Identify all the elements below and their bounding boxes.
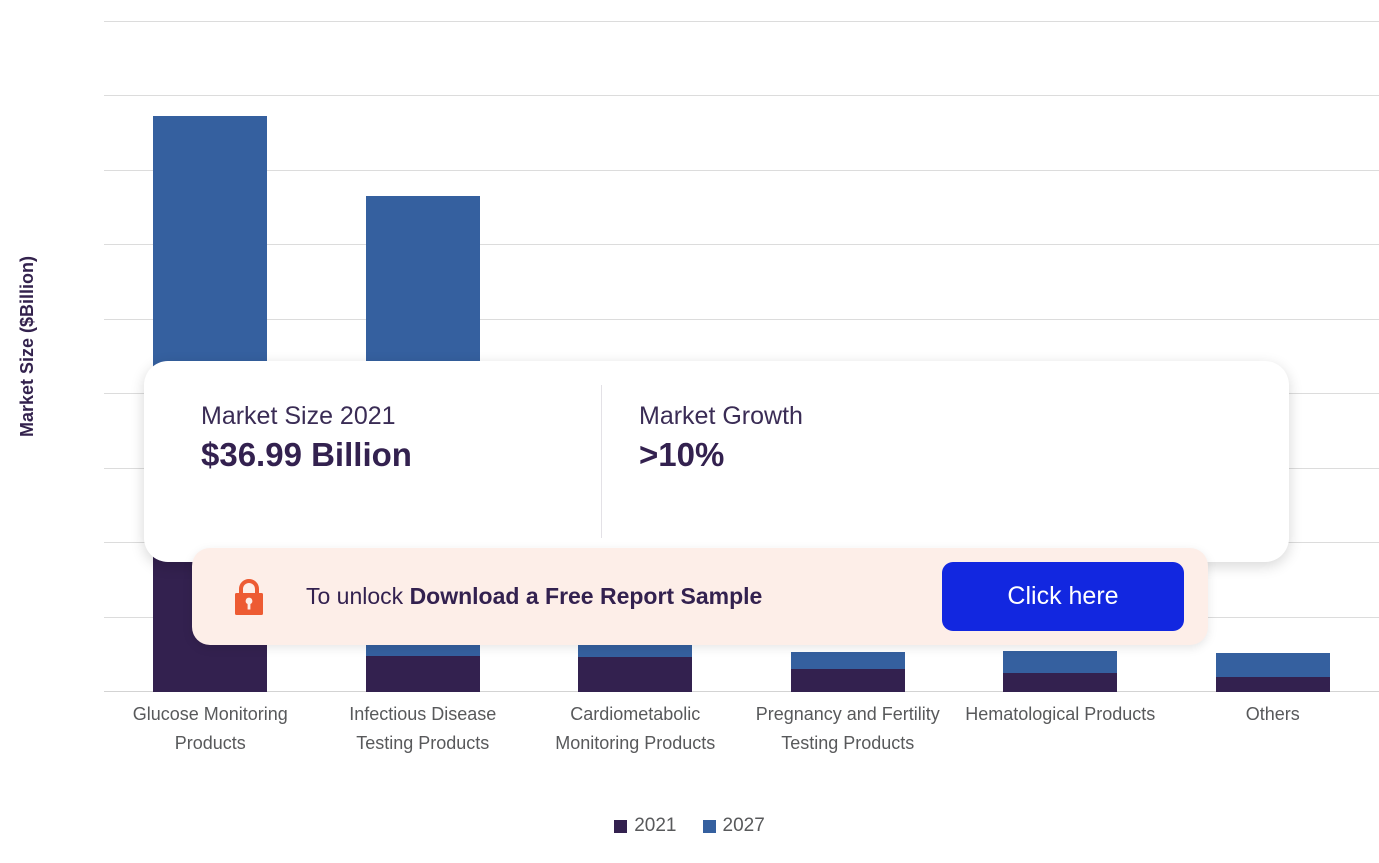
legend-swatch	[614, 820, 627, 833]
unlock-banner-text: To unlock Download a Free Report Sample	[306, 583, 942, 610]
info-cell-market-growth: Market Growth >10%	[601, 361, 854, 562]
lock-icon	[232, 578, 266, 616]
bar-2021	[791, 669, 905, 692]
bar-2021	[578, 657, 692, 693]
bar-group	[1216, 1, 1330, 692]
unlock-bold-text: Download a Free Report Sample	[410, 583, 763, 609]
y-axis-title: Market Size ($Billion)	[8, 0, 48, 692]
bar-2021	[1216, 677, 1330, 692]
x-tick-label: Infectious Disease Testing Products	[323, 700, 523, 758]
legend-swatch	[703, 820, 716, 833]
gridline	[104, 170, 1379, 171]
market-growth-value: >10%	[639, 435, 854, 475]
legend-label: 2027	[723, 815, 765, 837]
legend-item: 2027	[703, 815, 765, 837]
gridline	[104, 95, 1379, 96]
y-axis-title-label: Market Size ($Billion)	[18, 255, 39, 436]
gridline	[104, 21, 1379, 22]
legend-label: 2021	[634, 815, 676, 837]
bar-2021	[366, 656, 480, 692]
chart-legend: 20212027	[0, 815, 1379, 837]
gridline	[104, 244, 1379, 245]
market-growth-label: Market Growth	[639, 401, 854, 431]
x-tick-label: Hematological Products	[960, 700, 1160, 729]
x-tick-label: Pregnancy and Fertility Testing Products	[748, 700, 948, 758]
bar-2021	[1003, 673, 1117, 692]
x-axis-tick-labels: Glucose Monitoring ProductsInfectious Di…	[104, 700, 1379, 800]
x-axis-baseline	[104, 691, 1379, 692]
gridline	[104, 319, 1379, 320]
click-here-button[interactable]: Click here	[942, 562, 1184, 631]
unlock-report-banner: To unlock Download a Free Report Sample …	[192, 548, 1208, 645]
x-tick-label: Others	[1173, 700, 1373, 729]
info-cell-market-size: Market Size 2021 $36.99 Billion	[144, 361, 601, 562]
x-tick-label: Glucose Monitoring Products	[110, 700, 310, 758]
market-size-value: $36.99 Billion	[201, 435, 601, 475]
market-size-label: Market Size 2021	[201, 401, 601, 431]
unlock-prefix-text: To unlock	[306, 583, 410, 609]
x-tick-label: Cardiometabolic Monitoring Products	[535, 700, 735, 758]
market-size-bar-chart: Market Size ($Billion) Glucose Monitorin…	[0, 0, 1379, 863]
legend-item: 2021	[614, 815, 676, 837]
market-info-card: Market Size 2021 $36.99 Billion Market G…	[144, 361, 1289, 562]
info-cell-empty	[854, 361, 1289, 562]
